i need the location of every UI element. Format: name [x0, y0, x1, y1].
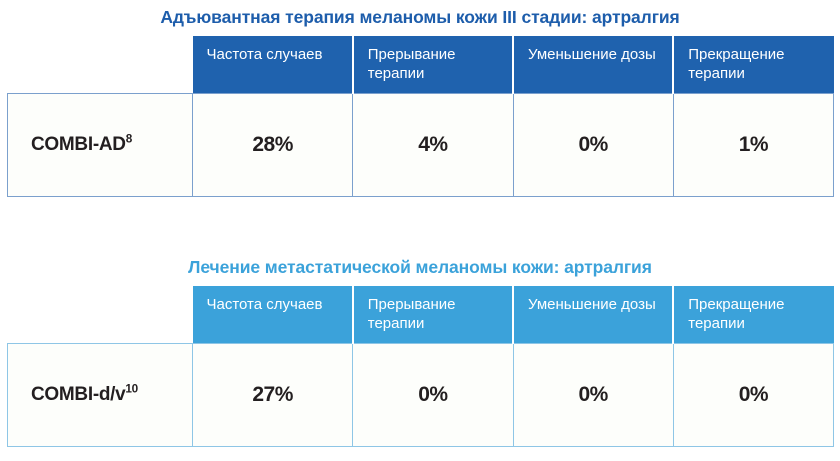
- table-row: COMBI-AD8 28% 4% 0% 1%: [8, 94, 834, 197]
- cell-interruption: 0%: [353, 344, 513, 447]
- metastatic-arthralgia-table: Частота случаев Прерывание терапии Умень…: [7, 286, 834, 447]
- column-header-interruption: Прерывание терапии: [353, 286, 513, 344]
- table-header-row: Частота случаев Прерывание терапии Умень…: [8, 286, 834, 344]
- section-title-metastatic: Лечение метастатической меланомы кожи: а…: [0, 250, 840, 286]
- row-label-superscript: 8: [126, 133, 132, 146]
- adjuvant-arthralgia-table: Частота случаев Прерывание терапии Умень…: [7, 36, 834, 197]
- column-header-dose-reduction: Уменьшение дозы: [513, 286, 673, 344]
- metastatic-therapy-section: Лечение метастатической меланомы кожи: а…: [0, 250, 840, 447]
- table-corner-cell: [8, 36, 193, 94]
- cell-discontinuation: 1%: [673, 94, 833, 197]
- row-label-combi-ad: COMBI-AD8: [8, 94, 193, 197]
- cell-dose-reduction: 0%: [513, 344, 673, 447]
- cell-incidence: 28%: [193, 94, 353, 197]
- table-wrapper-metastatic: Частота случаев Прерывание терапии Умень…: [0, 286, 840, 447]
- table-header-row: Частота случаев Прерывание терапии Умень…: [8, 36, 834, 94]
- column-header-incidence: Частота случаев: [193, 286, 353, 344]
- column-header-incidence: Частота случаев: [193, 36, 353, 94]
- cell-incidence: 27%: [193, 344, 353, 447]
- cell-discontinuation: 0%: [673, 344, 833, 447]
- section-title-adjuvant: Адъювантная терапия меланомы кожи III ст…: [0, 0, 840, 36]
- row-label-superscript: 10: [125, 383, 138, 396]
- row-label-text: COMBI-AD: [31, 134, 126, 155]
- table-corner-cell: [8, 286, 193, 344]
- cell-dose-reduction: 0%: [513, 94, 673, 197]
- table-row: COMBI-d/v10 27% 0% 0% 0%: [8, 344, 834, 447]
- row-label-text: COMBI-d/v: [31, 384, 125, 405]
- column-header-discontinuation: Прекращение терапии: [673, 286, 833, 344]
- adjuvant-therapy-section: Адъювантная терапия меланомы кожи III ст…: [0, 0, 840, 197]
- column-header-dose-reduction: Уменьшение дозы: [513, 36, 673, 94]
- column-header-discontinuation: Прекращение терапии: [673, 36, 833, 94]
- row-label-combi-dv: COMBI-d/v10: [8, 344, 193, 447]
- table-wrapper-adjuvant: Частота случаев Прерывание терапии Умень…: [0, 36, 840, 197]
- column-header-interruption: Прерывание терапии: [353, 36, 513, 94]
- cell-interruption: 4%: [353, 94, 513, 197]
